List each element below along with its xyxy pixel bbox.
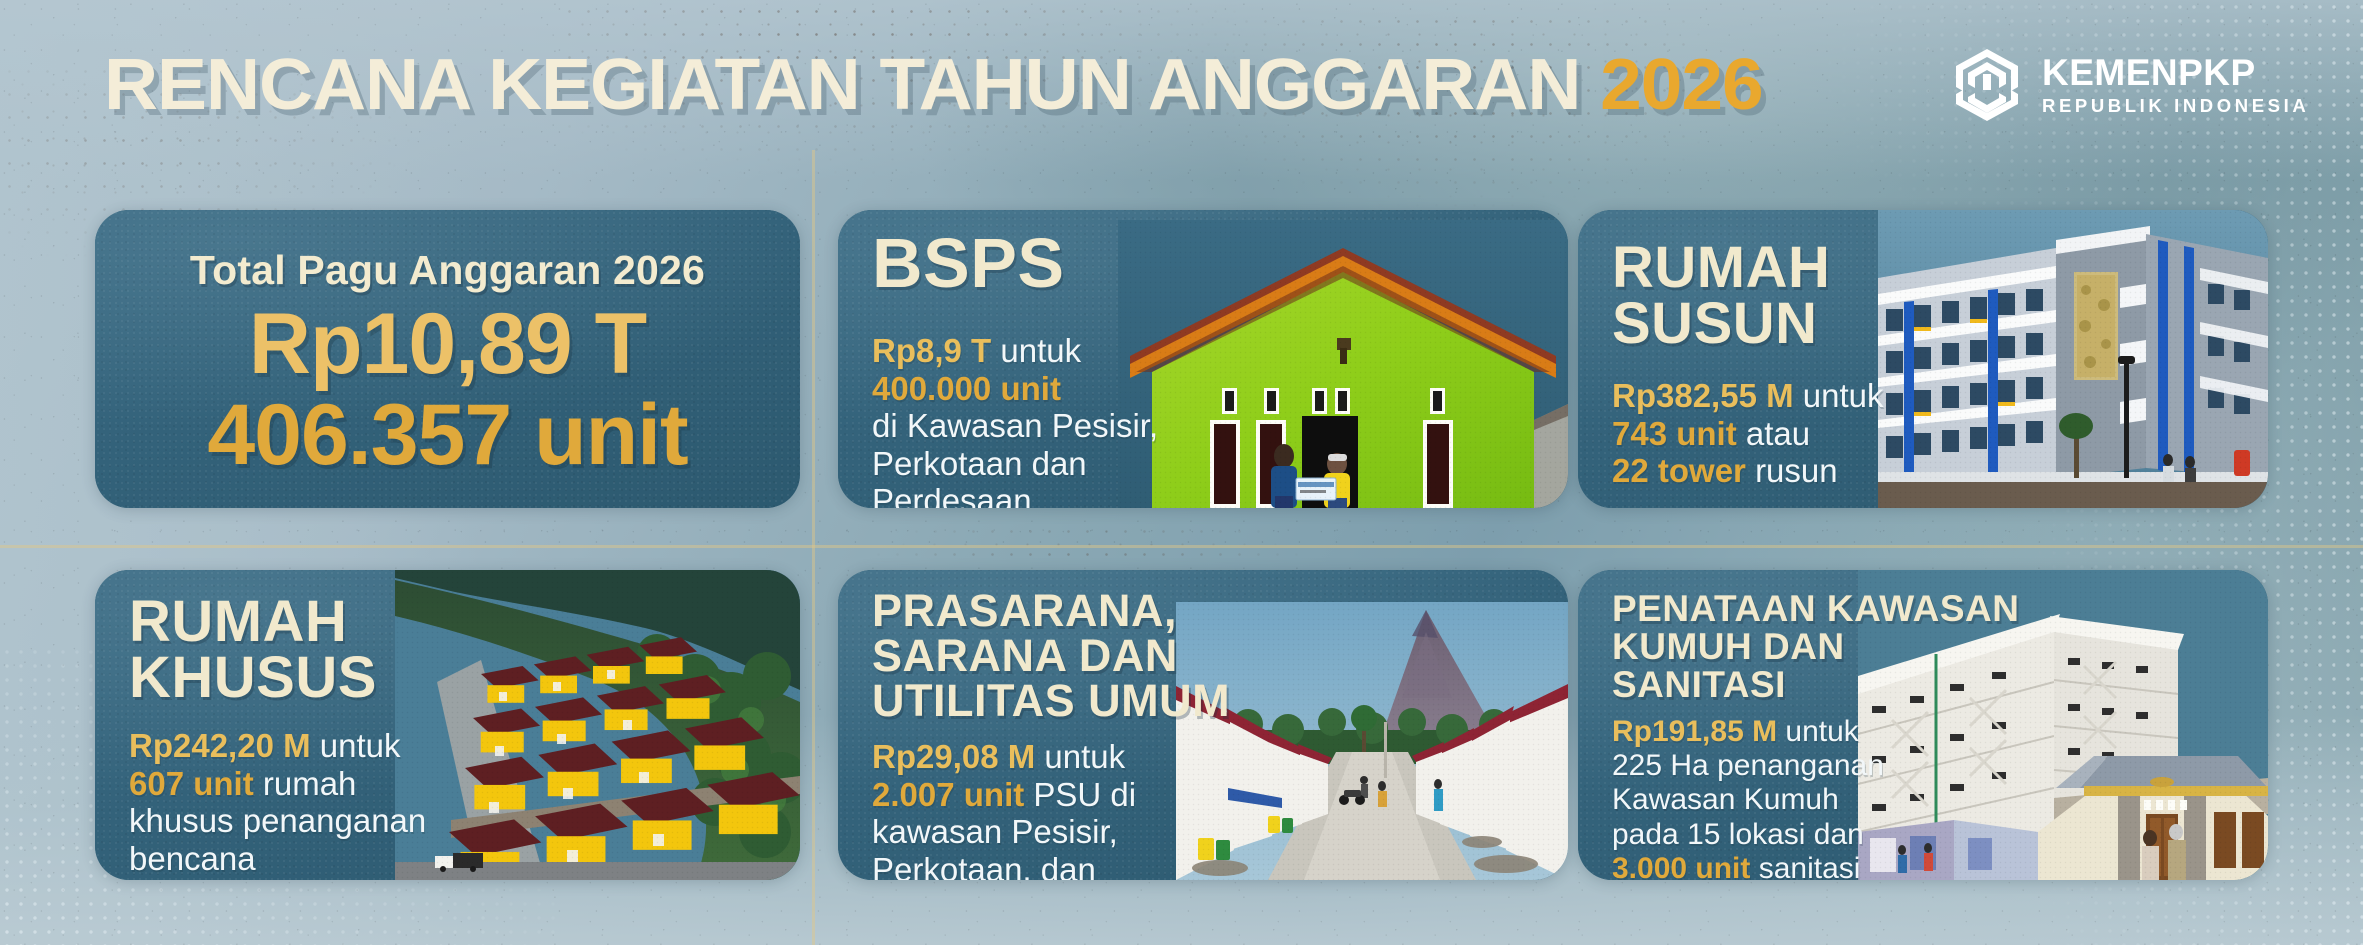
page-title: RENCANA KEGIATAN TAHUN ANGGARAN 2026 <box>104 44 1763 126</box>
kawasan-kumuh-title-3: SANITASI <box>1612 666 2019 704</box>
kawasan-kumuh-amount: Rp191,85 M <box>1612 715 1777 748</box>
card-kawasan-kumuh[interactable]: PENATAAN KAWASAN KUMUH DAN SANITASI Rp19… <box>1578 570 2268 880</box>
total-pagu-amount: Rp10,89 T <box>95 303 800 386</box>
rumah-khusus-desc-2: khusus penanganan <box>129 802 426 840</box>
kawasan-kumuh-units-suffix: sanitasi <box>1759 852 1861 880</box>
logo-text-group: KEMENPKP REPUBLIK INDONESIA <box>2042 54 2309 116</box>
psu-title-2: SARANA DAN <box>872 633 1230 678</box>
rumah-khusus-units: 607 unit <box>129 765 254 802</box>
rumah-khusus-desc-1: rumah <box>263 765 357 802</box>
bsps-title: BSPS <box>872 230 1065 297</box>
rumah-susun-units-suffix: atau <box>1746 415 1810 452</box>
kawasan-kumuh-title-2: KUMUH DAN <box>1612 628 2019 666</box>
kawasan-kumuh-title: PENATAAN KAWASAN KUMUH DAN SANITASI <box>1612 590 2019 704</box>
psu-units: 2.007 unit <box>872 776 1024 813</box>
rumah-susun-units2: 22 tower <box>1612 452 1746 489</box>
kemenpkp-logo: KEMENPKP REPUBLIK INDONESIA <box>1952 48 2309 122</box>
bsps-units: 400.000 unit <box>872 370 1158 408</box>
rumah-susun-units2-suffix: rusun <box>1755 452 1838 489</box>
bsps-amount: Rp8,9 T <box>872 332 991 369</box>
page-title-year: 2026 <box>1600 45 1762 125</box>
psu-desc-1: PSU di <box>1033 776 1136 813</box>
rumah-susun-units-line: 743 unit atau <box>1612 415 1884 453</box>
bsps-amount-line: Rp8,9 T untuk <box>872 332 1158 370</box>
kawasan-kumuh-amount-line: Rp191,85 M untuk <box>1612 715 1884 749</box>
card-rumah-susun[interactable]: RUMAH SUSUN Rp382,55 M untuk 743 unit at… <box>1578 210 2268 508</box>
page-title-main: RENCANA KEGIATAN TAHUN ANGGARAN <box>104 45 1580 125</box>
total-pagu-label: Total Pagu Anggaran 2026 <box>95 247 800 294</box>
logo-subtitle: REPUBLIK INDONESIA <box>2042 97 2309 116</box>
kawasan-kumuh-desc-3: pada 15 lokasi dan <box>1612 818 1884 852</box>
psu-title: PRASARANA, SARANA DAN UTILITAS UMUM <box>872 588 1230 723</box>
card-bsps[interactable]: BSPS Rp8,9 T untuk 400.000 unit di Kawas… <box>838 210 1568 508</box>
logo-name: KEMENPKP <box>2042 52 2256 93</box>
infographic-poster: RENCANA KEGIATAN TAHUN ANGGARAN 2026 KEM… <box>0 0 2363 945</box>
rumah-khusus-amount-suffix: untuk <box>320 727 401 764</box>
kawasan-kumuh-units: 3.000 unit <box>1612 852 1750 880</box>
card-rumah-khusus[interactable]: RUMAH KHUSUS Rp242,20 M untuk 607 unit r… <box>95 570 800 880</box>
rumah-susun-amount-line: Rp382,55 M untuk <box>1612 377 1884 415</box>
card-total-pagu[interactable]: Total Pagu Anggaran 2026 Rp10,89 T 406.3… <box>95 210 800 508</box>
psu-desc-3: Perkotaan, dan <box>872 851 1136 880</box>
rumah-susun-units: 743 unit <box>1612 415 1737 452</box>
rumah-khusus-title-2: KHUSUS <box>129 650 377 706</box>
rumah-khusus-units-line: 607 unit rumah <box>129 765 426 803</box>
psu-title-1: PRASARANA, <box>872 588 1230 633</box>
total-pagu-units: 406.357 unit <box>95 394 800 477</box>
kemenpkp-hexagon-icon <box>1952 48 2022 122</box>
rumah-khusus-title: RUMAH KHUSUS <box>129 594 377 705</box>
rumah-khusus-title-1: RUMAH <box>129 594 377 650</box>
rumah-khusus-amount: Rp242,20 M <box>129 727 311 764</box>
rumah-susun-title: RUMAH SUSUN <box>1612 240 1830 351</box>
rumah-susun-title-2: SUSUN <box>1612 296 1830 352</box>
kawasan-kumuh-amount-suffix: untuk <box>1785 715 1858 748</box>
kawasan-kumuh-units-line: 3.000 unit sanitasi <box>1612 852 1884 880</box>
psu-amount-line: Rp29,08 M untuk <box>872 738 1136 776</box>
card-psu[interactable]: PRASARANA, SARANA DAN UTILITAS UMUM Rp29… <box>838 570 1568 880</box>
rumah-susun-amount: Rp382,55 M <box>1612 377 1794 414</box>
psu-amount-suffix: untuk <box>1044 738 1125 775</box>
poster-header: RENCANA KEGIATAN TAHUN ANGGARAN 2026 KEM… <box>0 0 2363 150</box>
psu-units-line: 2.007 unit PSU di <box>872 776 1136 814</box>
guide-line-horizontal-1 <box>0 545 2363 548</box>
psu-title-3: UTILITAS UMUM <box>872 678 1230 723</box>
rumah-khusus-amount-line: Rp242,20 M untuk <box>129 727 426 765</box>
bsps-desc-3: Perdesaan <box>872 482 1158 508</box>
psu-amount: Rp29,08 M <box>872 738 1035 775</box>
bsps-amount-suffix: untuk <box>1000 332 1081 369</box>
kawasan-kumuh-desc-1: 225 Ha penanganan <box>1612 749 1884 783</box>
rumah-khusus-desc-3: bencana <box>129 840 426 878</box>
kawasan-kumuh-title-1: PENATAAN KAWASAN <box>1612 590 2019 628</box>
rumah-susun-title-1: RUMAH <box>1612 240 1830 296</box>
psu-desc-2: kawasan Pesisir, <box>872 813 1136 851</box>
rumah-susun-amount-suffix: untuk <box>1803 377 1884 414</box>
bsps-desc-1: di Kawasan Pesisir, <box>872 407 1158 445</box>
bsps-desc-2: Perkotaan dan <box>872 445 1158 483</box>
kawasan-kumuh-desc-2: Kawasan Kumuh <box>1612 783 1884 817</box>
rumah-susun-units2-line: 22 tower rusun <box>1612 452 1884 490</box>
